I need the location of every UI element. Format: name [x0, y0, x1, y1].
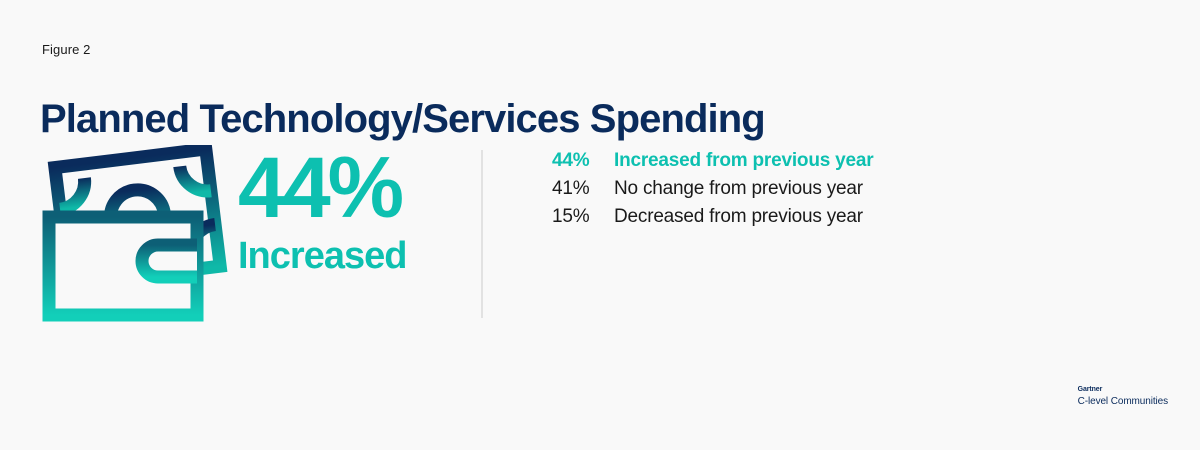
legend-list: 44% Increased from previous year 41% No …	[552, 150, 972, 234]
brand-subtitle: C-level Communities	[1078, 395, 1168, 408]
legend-label: Increased from previous year	[614, 150, 873, 172]
money-wallet-icon	[40, 145, 230, 323]
legend-row: 41% No change from previous year	[552, 178, 972, 206]
figure-label: Figure 2	[42, 42, 91, 57]
legend-row: 44% Increased from previous year	[552, 150, 972, 178]
vertical-divider	[481, 150, 483, 318]
stat-block: 44% Increased	[40, 145, 460, 325]
legend-label: Decreased from previous year	[614, 206, 863, 228]
brand-mark: Gartner C-level Communities	[1078, 385, 1168, 408]
brand-name: Gartner	[1078, 385, 1168, 394]
legend-percent: 15%	[552, 206, 614, 228]
legend-percent: 44%	[552, 150, 614, 172]
page-title: Planned Technology/Services Spending	[40, 95, 765, 143]
stat-value: 44%	[238, 147, 401, 229]
stat-figures: 44% Increased	[238, 145, 406, 277]
stat-caption: Increased	[238, 235, 406, 277]
legend-percent: 41%	[552, 178, 614, 200]
legend-label: No change from previous year	[614, 178, 863, 200]
legend-row: 15% Decreased from previous year	[552, 206, 972, 234]
